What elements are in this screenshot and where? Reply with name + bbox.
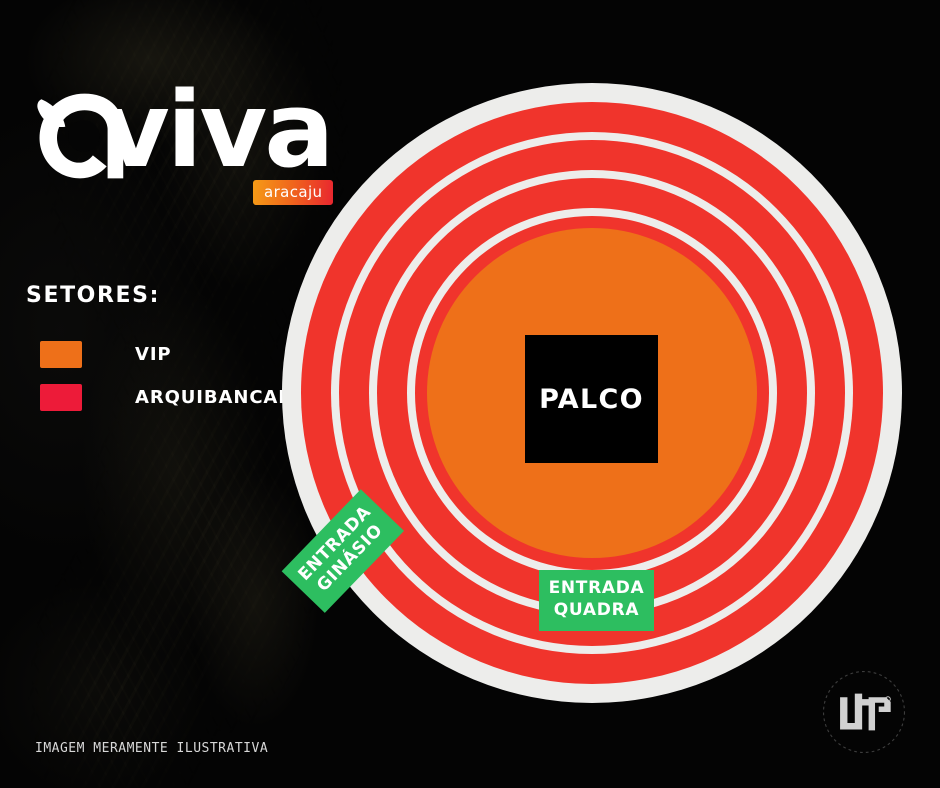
vip-color-swatch — [40, 341, 82, 368]
legend-item-vip: VIP — [40, 341, 172, 368]
entrance-quadra[interactable]: ENTRADA QUADRA — [539, 570, 654, 631]
ltp-producoes-watermark-icon — [818, 666, 910, 758]
stage-block: PALCO — [525, 335, 658, 463]
entrance-quadra-line1: ENTRADA — [545, 578, 648, 600]
entrance-quadra-line2: QUADRA — [545, 600, 648, 622]
legend-label-vip: VIP — [135, 344, 172, 365]
venue-seating-map: viva aracaju SETORES: VIP ARQUIBANCADA — [0, 0, 940, 788]
stage-label: PALCO — [539, 384, 644, 415]
arquibancada-color-swatch — [40, 384, 82, 411]
legend-title: SETORES: — [26, 283, 160, 308]
legend-item-arquibancada: ARQUIBANCADA — [40, 384, 309, 411]
illustrative-image-disclaimer: IMAGEM MERAMENTE ILUSTRATIVA — [35, 741, 268, 756]
